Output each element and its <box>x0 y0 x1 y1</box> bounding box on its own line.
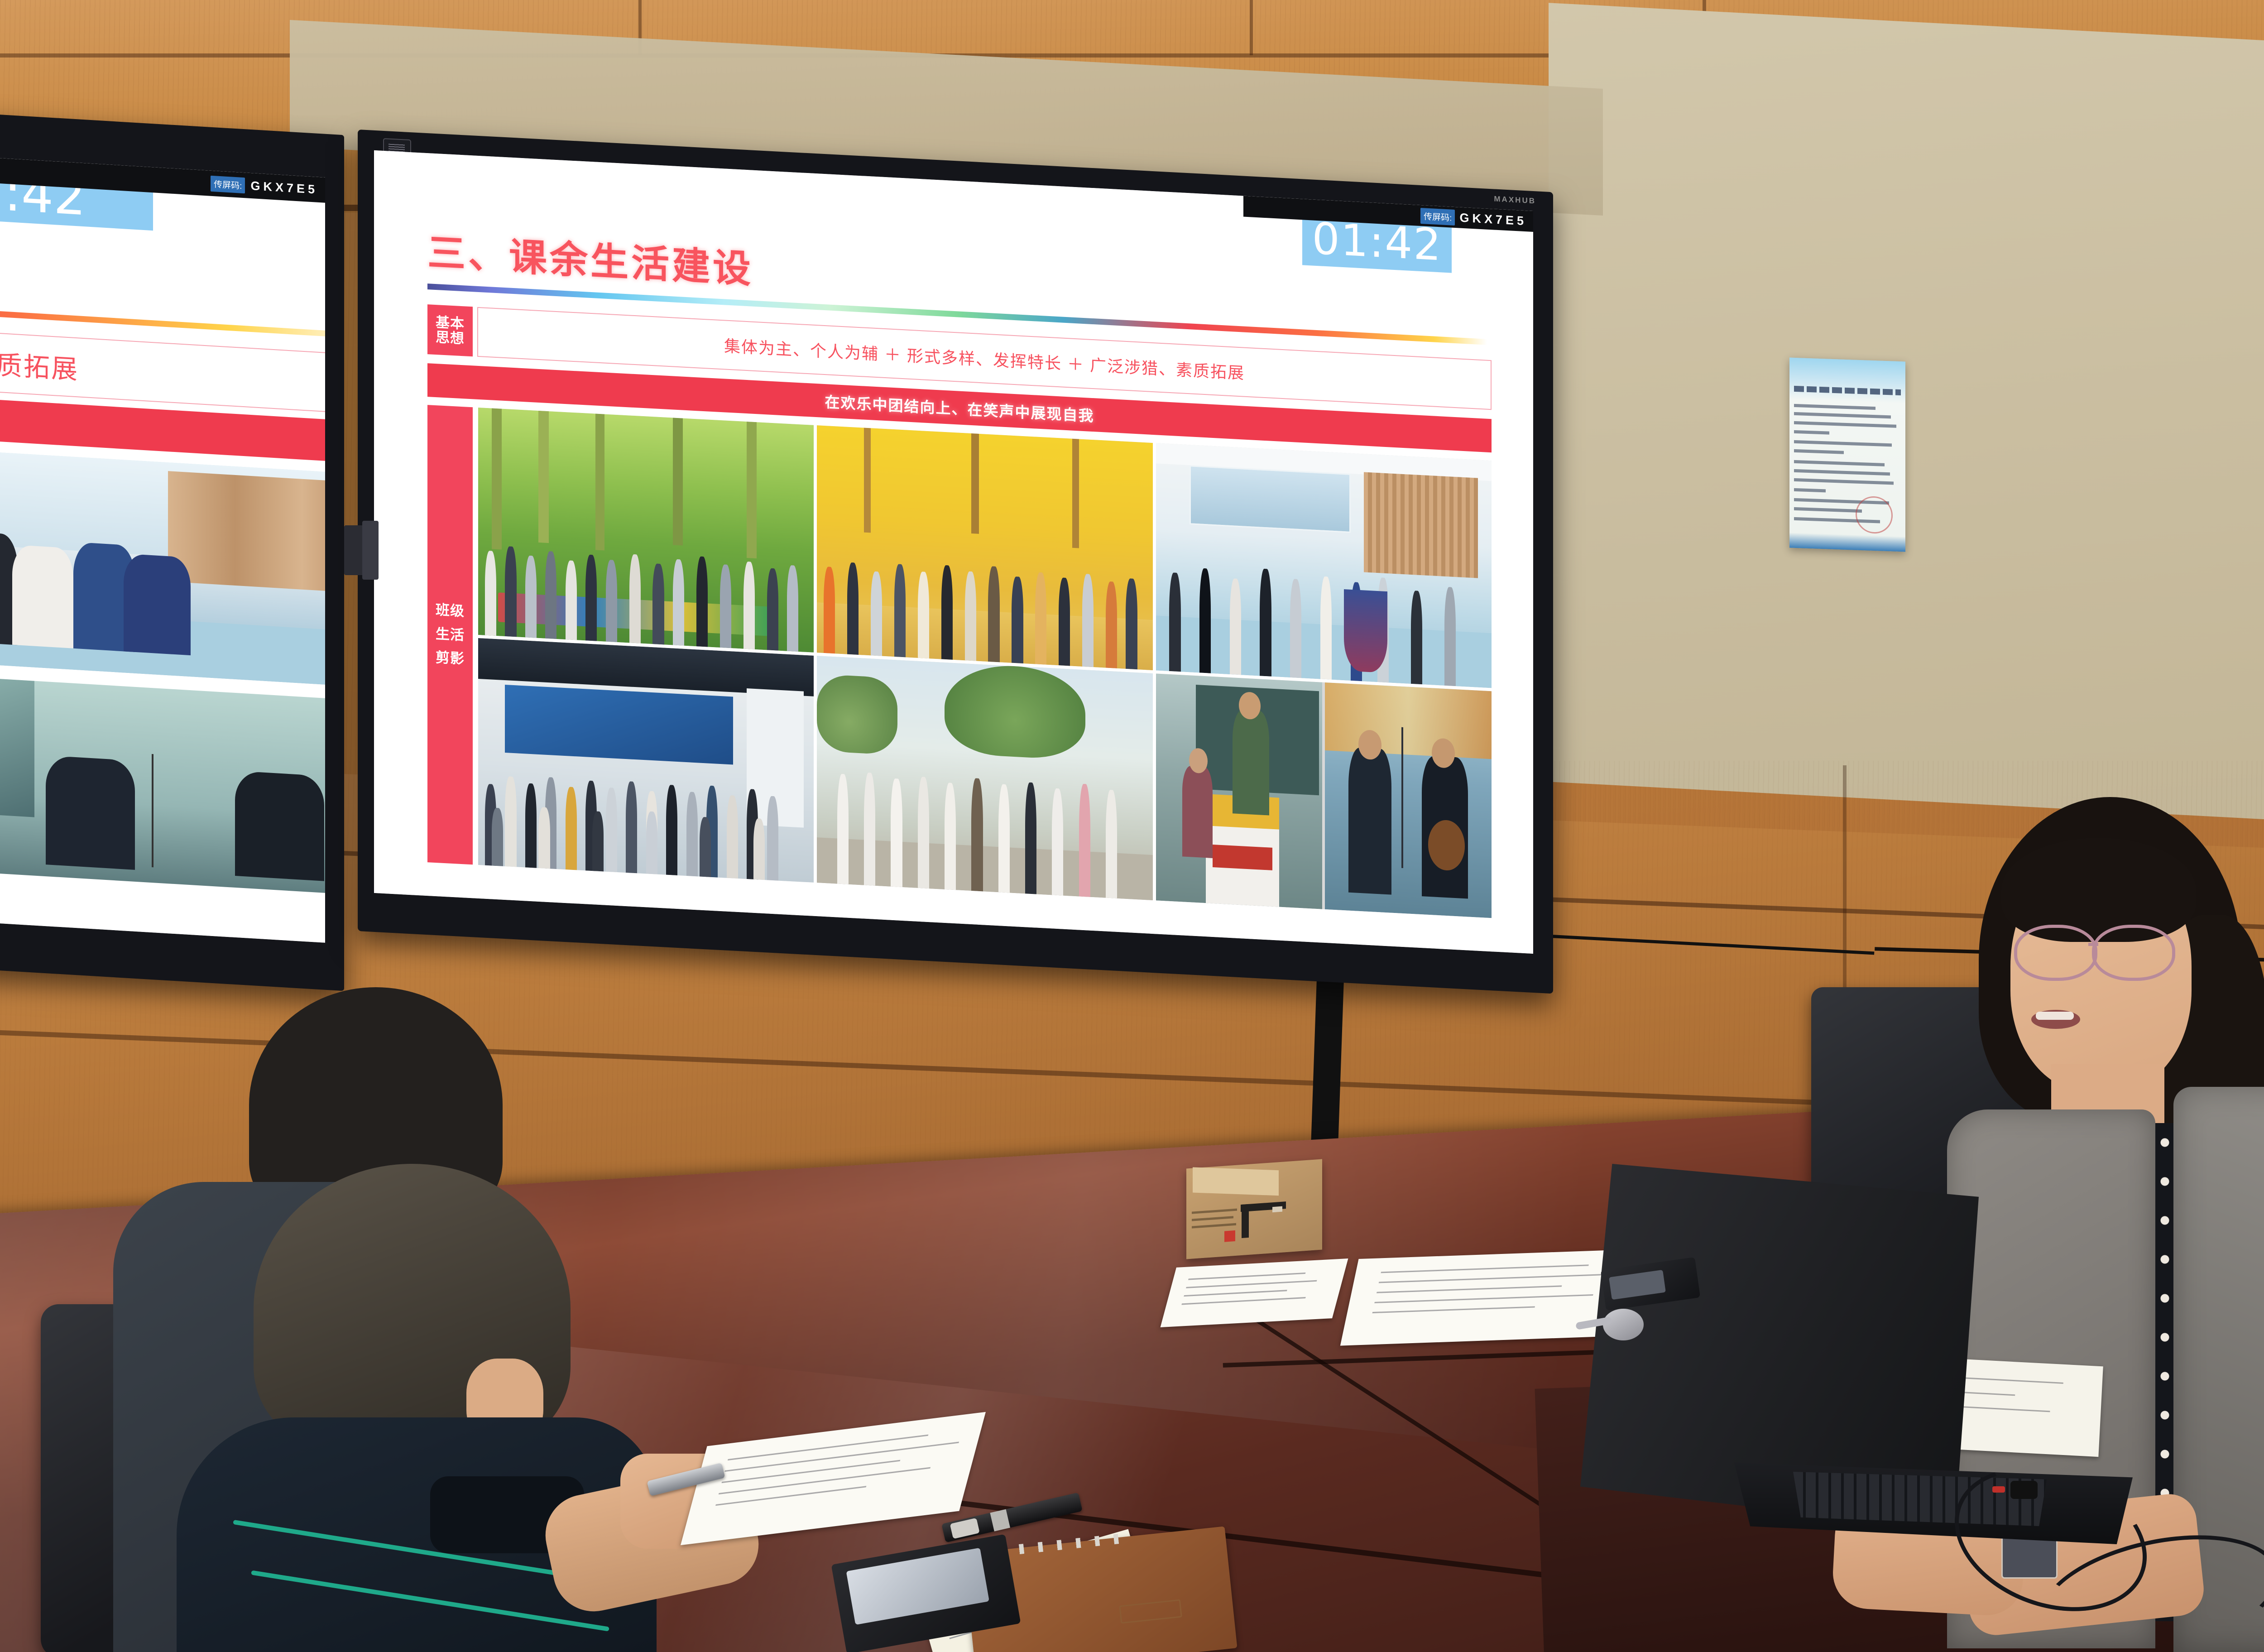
document-paper-1[interactable] <box>1161 1258 1348 1327</box>
basic-tag-line-1: 基本 <box>436 315 465 331</box>
photo-basketball-team <box>817 656 1152 900</box>
basic-tag-line-2: 思想 <box>436 330 465 346</box>
photo-classroom-activity <box>1156 443 1492 687</box>
slide-title: 三、课余生活建设 <box>427 222 753 294</box>
secondary-display-panel: 01:42 传屏码: GKX7E5 素质拓展 <box>0 155 325 943</box>
eyeglasses-icon <box>2014 925 2097 981</box>
crowd-silhouettes <box>478 720 814 883</box>
sign-text-line <box>1794 449 1844 454</box>
car-keys[interactable] <box>1576 1304 1662 1345</box>
photo-bamboo-grove <box>478 408 814 652</box>
photo-grid-wrapper: 班级 生活 剪影 <box>427 405 1492 918</box>
photo-pair-cell <box>1156 673 1492 918</box>
photo-podium-speaker <box>1156 673 1323 909</box>
class-tag-line-1: 班级 <box>436 598 465 624</box>
secondary-screen-code-value: GKX7E5 <box>250 179 318 197</box>
box-print-bar <box>1242 1204 1249 1238</box>
wall-beige-panel <box>1549 3 2264 831</box>
sign-text-line <box>1794 507 1862 513</box>
presentation-slide: 01:42 传屏码: GKX7E5 三、课余生活建设 基本 思想 集体为主、个人… <box>374 150 1533 954</box>
sign-text-line <box>1794 404 1875 410</box>
display-mount-hinge <box>362 521 379 580</box>
crowd-silhouettes <box>817 525 1152 670</box>
safety-notice-poster <box>1789 358 1905 552</box>
box-print-mark <box>1272 1206 1282 1213</box>
secondary-slide: 01:42 传屏码: GKX7E5 素质拓展 <box>0 155 325 943</box>
sign-title-line <box>1794 386 1901 395</box>
teeth <box>2036 1012 2074 1020</box>
hair-fringe <box>2001 838 2196 942</box>
screen-code-label: 传屏码: <box>1420 208 1455 226</box>
cable-connector <box>2010 1481 2038 1499</box>
main-display-panel: 01:42 传屏码: GKX7E5 三、课余生活建设 基本 思想 集体为主、个人… <box>374 150 1533 954</box>
sign-text-line <box>1794 412 1891 418</box>
conference-room-scene: 01:42 传屏码: GKX7E5 素质拓展 <box>0 0 2264 1652</box>
photo-classroom-activity <box>0 443 325 689</box>
class-tag-line-3: 剪影 <box>436 646 465 671</box>
screen-code-value: GKX7E5 <box>1459 211 1527 228</box>
secondary-divider <box>0 303 325 340</box>
cable-red-tag <box>1992 1486 2005 1493</box>
sign-text-line <box>1794 440 1892 447</box>
class-tag-line-2: 生活 <box>436 622 465 648</box>
secondary-basic-text: 素质拓展 <box>0 342 79 386</box>
box-red-stamp <box>1224 1230 1235 1242</box>
photo-indoor-group <box>478 638 814 882</box>
crowd-silhouettes <box>1156 529 1492 688</box>
box-print-text <box>1192 1223 1236 1229</box>
crowd-silhouettes <box>817 742 1152 900</box>
box-print-text <box>1192 1209 1237 1214</box>
sign-text-line <box>1794 460 1885 466</box>
photo-autumn-ginkgo <box>817 425 1152 670</box>
crowd-silhouettes <box>478 499 814 653</box>
cardboard-box[interactable] <box>1186 1159 1322 1259</box>
eyeglasses-bridge <box>2088 943 2098 946</box>
sign-text-line <box>1794 478 1894 485</box>
basic-idea-tag: 基本 思想 <box>427 304 473 356</box>
secondary-display[interactable]: 01:42 传屏码: GKX7E5 素质拓展 <box>0 111 344 991</box>
box-inner-flap <box>1193 1167 1279 1196</box>
sign-text-line <box>1794 421 1896 428</box>
eyeglasses-icon <box>2092 925 2175 981</box>
basic-idea-text: 集体为主、个人为辅 ＋ 形式多样、发挥特长 ＋ 广泛涉猎、素质拓展 <box>724 333 1245 384</box>
box-print-text <box>1192 1216 1233 1221</box>
notebook-emboss <box>1119 1599 1182 1624</box>
sign-text-line <box>1794 469 1890 475</box>
attendee-man-back-front <box>149 1164 747 1652</box>
class-life-tag: 班级 生活 剪影 <box>427 405 473 864</box>
display-brand-logo: MAXHUB <box>1494 195 1536 206</box>
photo-guitar-performance <box>0 670 325 898</box>
main-display[interactable]: MAXHUB 01:42 传屏码: GKX7E5 三、课余生活建设 基本 思想 <box>358 130 1553 994</box>
photo-grid <box>478 408 1492 918</box>
sign-text-line <box>1794 488 1826 492</box>
photo-guitar-performance <box>1325 682 1492 918</box>
wall-seam-vertical <box>1250 0 1253 55</box>
sign-text-line <box>1794 430 1829 435</box>
secondary-screen-code-label: 传屏码: <box>211 175 245 193</box>
